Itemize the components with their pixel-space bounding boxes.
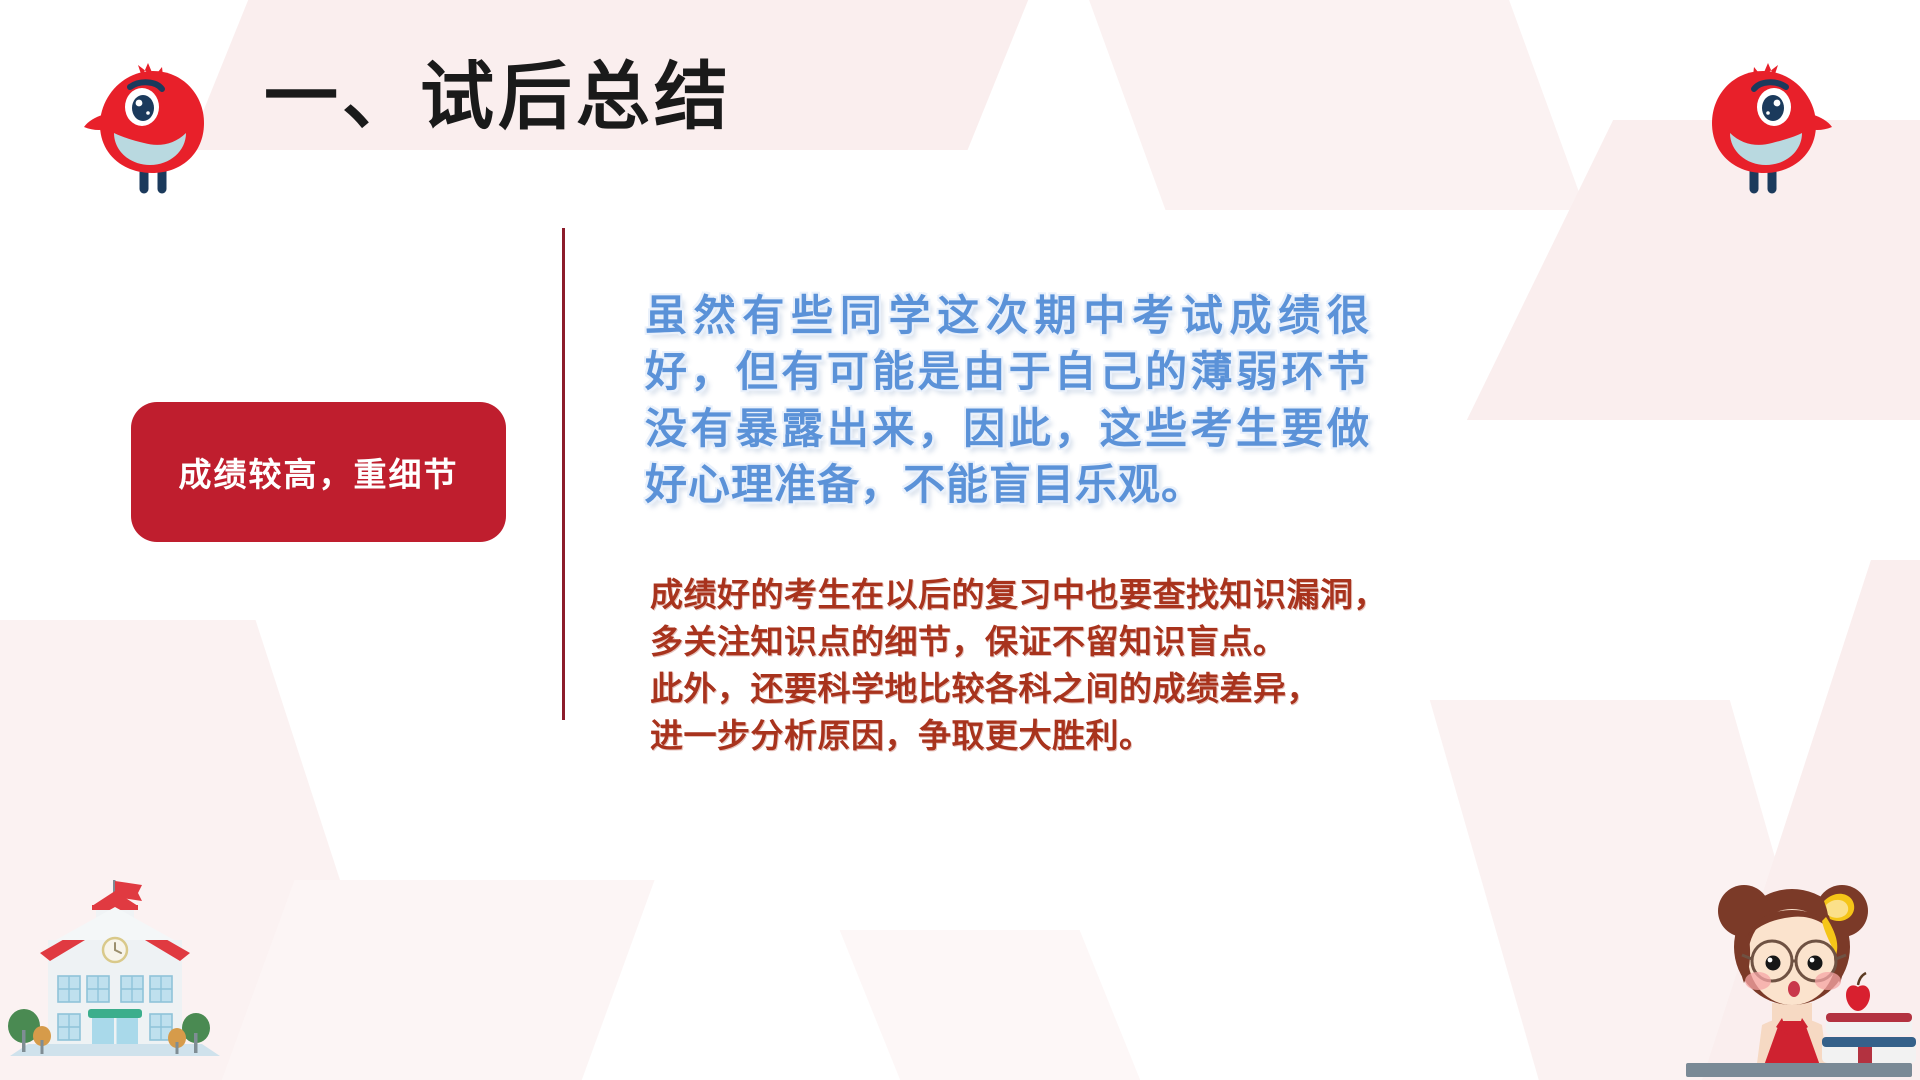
red-bird-mascot-icon [1688, 55, 1838, 200]
label-box-text: 成绩较高，重细节 [179, 448, 459, 496]
page-title: 一、试后总结 [80, 60, 732, 134]
bg-shape-8 [840, 930, 1161, 1080]
red-paragraph-line: 成绩好的考生在以后的复习中也要查找知识漏洞， [650, 572, 1410, 619]
page-title-text: 一、试后总结 [264, 60, 732, 134]
student-girl-with-books-icon [1676, 875, 1920, 1080]
presentation-slide: 一、试后总结 成绩较高，重细节 虽然有些同学这次期中考试成绩很好，但有可能是由于… [0, 0, 1920, 1080]
bg-shape-2 [1075, 0, 1586, 210]
bg-shape-5 [185, 880, 654, 1080]
red-detail-paragraph: 成绩好的考生在以后的复习中也要查找知识漏洞， 多关注知识点的细节，保证不留知识盲… [650, 572, 1410, 759]
status-badge: 成绩较高，重细节 [131, 402, 506, 542]
red-paragraph-line: 进一步分析原因，争取更大胜利。 [650, 713, 1410, 760]
red-paragraph-line: 多关注知识点的细节，保证不留知识盲点。 [650, 619, 1410, 666]
blue-highlight-paragraph: 虽然有些同学这次期中考试成绩很好，但有可能是由于自己的薄弱环节没有暴露出来，因此… [645, 288, 1370, 513]
school-building-icon [0, 878, 230, 1080]
vertical-divider [562, 228, 565, 720]
red-paragraph-line: 此外，还要科学地比较各科之间的成绩差异， [650, 666, 1410, 713]
